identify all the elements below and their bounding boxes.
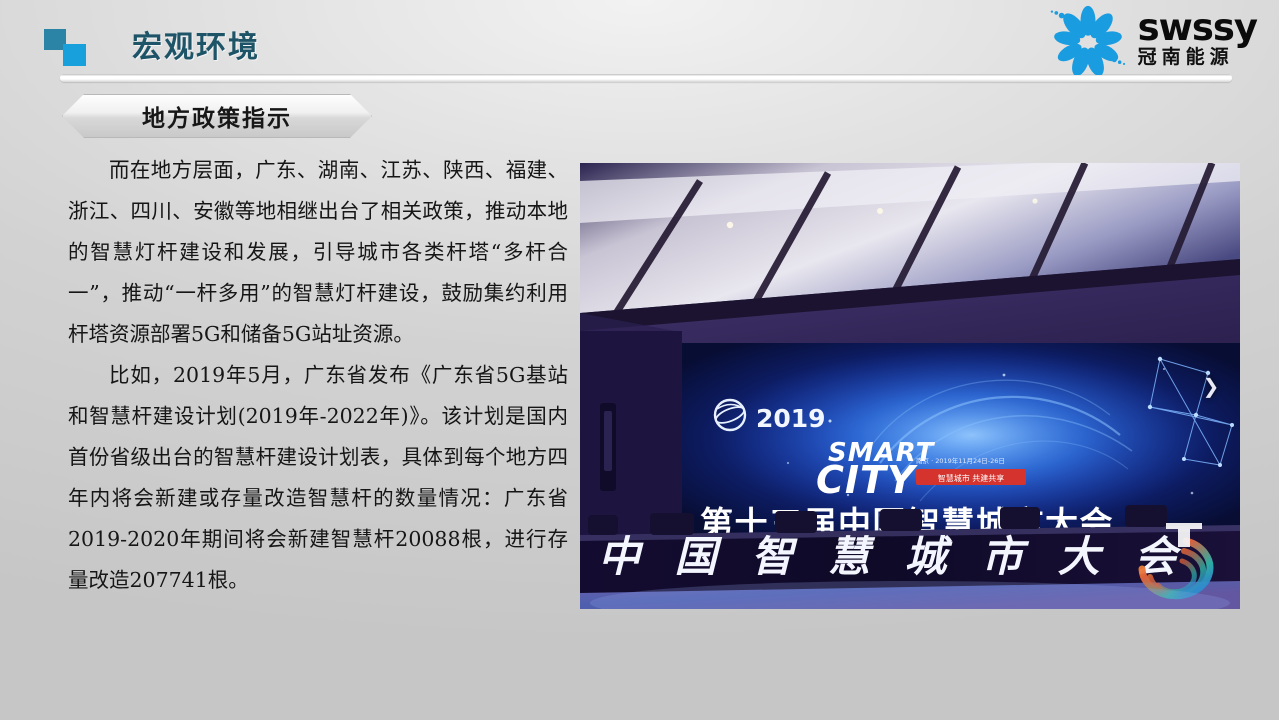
slide-canvas: 宏观环境 (0, 0, 1279, 720)
paragraph: 比如，2019年5月，广东省发布《广东省5G基站和智慧杆建设计划(2019年-2… (68, 355, 568, 601)
page-title: 宏观环境 (132, 22, 260, 66)
section-banner-label: 地方政策指示 (142, 99, 292, 133)
svg-text:南京 · 2019年11月24日-26日: 南京 · 2019年11月24日-26日 (916, 456, 1005, 465)
brand-subtitle: 冠南能源 (1138, 48, 1257, 67)
svg-text:CITY: CITY (816, 458, 918, 502)
section-banner: 地方政策指示 (62, 94, 372, 138)
brand-logo: swssy 冠南能源 (1044, 4, 1257, 74)
brand-name: swssy (1138, 9, 1257, 46)
chevron-right-icon[interactable]: ❯ (1198, 373, 1224, 399)
svg-text:智慧城市 共建共享: 智慧城市 共建共享 (938, 473, 1005, 483)
stage-banner-text: 中 国 智 慧 城 市 大 会 (598, 532, 1186, 581)
body-text-block: 而在地方层面，广东、湖南、江苏、陕西、福建、浙江、四川、安徽等地相继出台了相关政… (68, 150, 568, 601)
slide-header: 宏观环境 (0, 0, 1279, 90)
led-year: 2019 (756, 404, 826, 433)
brand-wordmark: swssy 冠南能源 (1138, 9, 1257, 69)
swssy-petal-logo-icon (1044, 5, 1132, 73)
header-square-blue-icon (63, 44, 86, 66)
conference-photo: 2019 SMART CITY 南京 · 2019年11月24日-26日 智慧城… (580, 163, 1240, 609)
paragraph: 而在地方层面，广东、湖南、江苏、陕西、福建、浙江、四川、安徽等地相继出台了相关政… (68, 150, 568, 355)
